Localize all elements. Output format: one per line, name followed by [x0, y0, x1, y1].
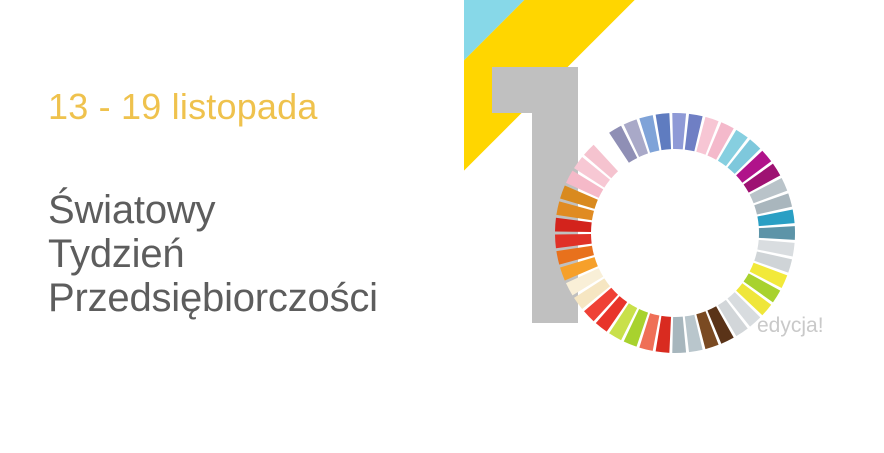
title-line-3: Przedsiębiorczości: [48, 276, 378, 320]
edition-numeral: [470, 55, 810, 355]
page-title: Światowy Tydzień Przedsiębiorczości: [48, 188, 378, 320]
sponsor-logo-bar: GLOBAL ENTREPRENEURSHIP WEEK Koordynator…: [0, 357, 884, 453]
title-line-2: Tydzień: [48, 232, 378, 276]
poster-canvas: 13 - 19 listopada Światowy Tydzień Przed…: [0, 0, 884, 453]
edition-label: edycja!: [757, 314, 824, 338]
ring-segment-13: [759, 226, 795, 240]
event-dates: 13 - 19 listopada: [48, 86, 318, 128]
ring-segment-24: [672, 317, 686, 353]
title-line-1: Światowy: [48, 188, 378, 232]
ring-segment-2: [672, 113, 686, 149]
